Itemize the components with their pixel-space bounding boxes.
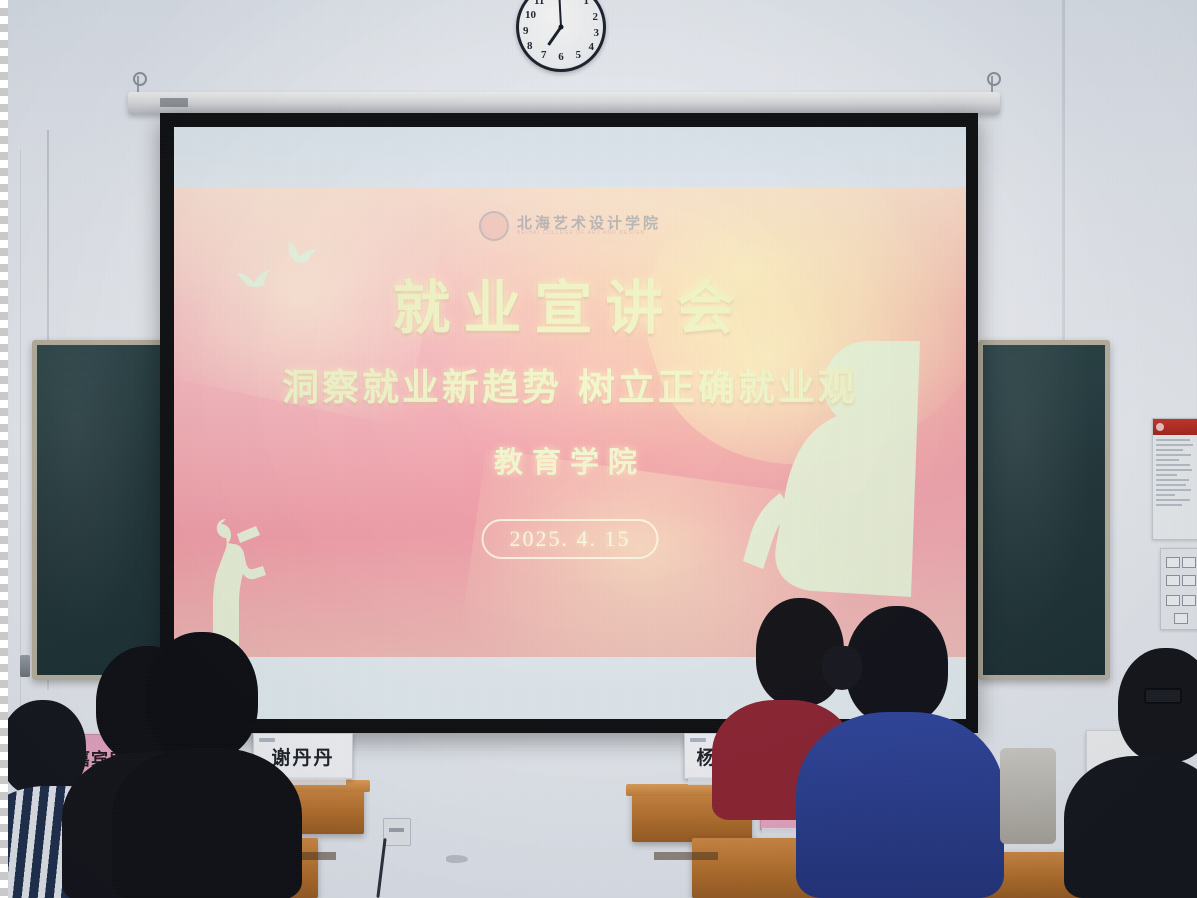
clock-numeral: 5 [576,49,582,61]
clock-numeral: 2 [593,11,599,23]
power-outlet [383,818,411,846]
clock-numeral: 1 [584,0,590,7]
slide-logo-en: BEIHAI COLLEGE OF ART AND DESIGN [517,231,661,236]
name-card-text: 谢丹丹 [271,743,334,770]
handbag [1000,748,1056,844]
poster-logo-icon [1156,423,1164,431]
clock-numeral: 4 [589,41,595,53]
namecard-logo-icon [690,738,706,742]
glasses-icon [1144,688,1182,704]
poster-header-banner [1153,419,1197,435]
clock-numeral: 9 [523,25,529,37]
transparency-edge-strip [0,0,8,898]
clock-numeral: 10 [525,9,536,21]
clock-numeral: 6 [558,51,564,63]
namecard-logo-icon [259,738,275,742]
wall-scuff [446,855,468,863]
desk-shadow [654,852,718,860]
screen-roller-housing [128,92,1000,114]
attendee-arm [822,646,862,690]
clock-numeral: 8 [527,40,533,52]
clock-numeral: 3 [594,27,600,39]
classroom-photo: 12 1 2 3 4 5 6 7 8 9 10 11 [0,0,1197,898]
blackboard-right [978,340,1110,680]
clock-numeral: 11 [534,0,544,7]
slide-organizer: 教育学院 [174,439,966,481]
clock-minute-hand [558,0,562,27]
poster-flowchart [1160,548,1197,630]
screen-brand-label [160,98,188,107]
university-seal-icon [479,211,509,241]
screen-surface: 北海艺术设计学院 BEIHAI COLLEGE OF ART AND DESIG… [174,127,966,719]
blackboard-left [32,340,176,680]
clock-numeral: 7 [541,49,547,61]
slide-date-badge: 2025. 4. 15 [482,519,659,559]
slide-university-logo: 北海艺术设计学院 BEIHAI COLLEGE OF ART AND DESIG… [479,211,661,241]
slide-logo-cn: 北海艺术设计学院 [517,216,661,232]
poster-body-text [1153,435,1197,513]
silhouette-girl-reading-icon [196,467,282,657]
slide-subtitle: 洞察就业新趋势 树立正确就业观 [174,357,966,411]
presentation-slide: 北海艺术设计学院 BEIHAI COLLEGE OF ART AND DESIG… [174,187,966,657]
clock-center-pin [559,25,564,30]
blackboard-clip [20,655,30,677]
slide-title: 就业宣讲会 [174,261,966,345]
poster-notice [1152,418,1197,540]
